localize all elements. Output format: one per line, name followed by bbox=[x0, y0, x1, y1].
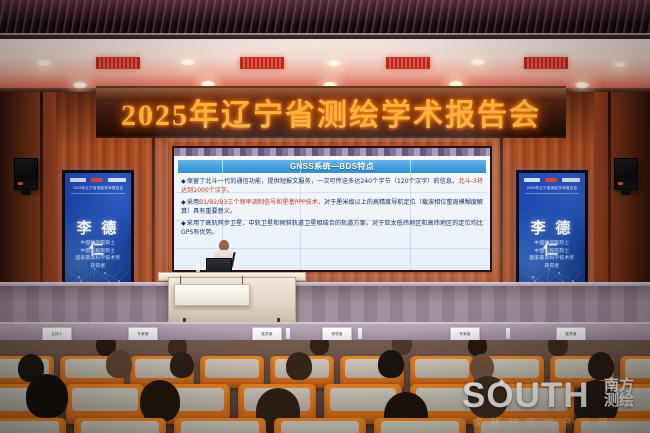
audience-member bbox=[106, 350, 132, 378]
audience-member bbox=[26, 374, 68, 418]
table-bottle bbox=[286, 328, 290, 339]
bullet-text: 采用了高轨同步卫星、中轨卫星和倾斜轨道卫星相结合的轨道方案，对于亚太低纬地区和高… bbox=[181, 220, 483, 236]
event-logo-icon bbox=[545, 178, 557, 182]
audience-member bbox=[170, 352, 194, 378]
side-display-right: 2025年辽宁省测绘学术报告会 李 德 仁 中国科学院院士 中国工程院院士 国家… bbox=[516, 170, 588, 292]
ceiling-vent bbox=[524, 57, 568, 69]
name-card: 主持人 bbox=[42, 327, 72, 341]
name-card: 嘉宾席 bbox=[556, 327, 586, 341]
bullet-marker: ◆ bbox=[181, 178, 186, 185]
seat bbox=[174, 418, 266, 433]
side-display-left: 2025年辽宁省测绘学术报告会 李 德 仁 中国科学院院士 中国工程院院士 国家… bbox=[62, 170, 134, 292]
auditorium-photo: 2025年辽宁省测绘学术报告会 2025年辽宁省测绘学术报告会 李 德 仁 中国… bbox=[0, 0, 650, 433]
side-display-event-subtitle: 2025年辽宁省测绘学术报告会 bbox=[65, 186, 131, 191]
audience-area bbox=[0, 340, 650, 433]
seat bbox=[474, 418, 566, 433]
bullet-marker: ◆ bbox=[181, 220, 186, 227]
name-card: 嘉宾席 bbox=[252, 327, 282, 341]
slide-title-bar: GNSS系统—BDS特点 bbox=[178, 160, 486, 173]
side-display-left-content: 2025年辽宁省测绘学术报告会 李 德 仁 中国科学院院士 中国工程院院士 国家… bbox=[65, 173, 131, 289]
audience-member bbox=[588, 352, 614, 380]
ceiling-slats bbox=[0, 0, 650, 35]
audience-member bbox=[548, 340, 568, 356]
slide-bullet: ◆采用了高轨同步卫星、中轨卫星和倾斜轨道卫星相结合的轨道方案，对于亚太低纬地区和… bbox=[181, 220, 483, 237]
screen-top-trim bbox=[174, 148, 490, 156]
wall-seam bbox=[40, 92, 43, 292]
seat bbox=[374, 418, 466, 433]
side-display-logos bbox=[522, 177, 582, 183]
bullet-text: 采用 bbox=[187, 199, 199, 206]
name-card: 专家席 bbox=[128, 327, 158, 341]
speaker-title-line: 中国科学院院士 bbox=[65, 239, 131, 247]
downlight bbox=[72, 81, 88, 89]
bullet-marker: ◆ bbox=[181, 199, 186, 206]
audience-member bbox=[378, 350, 404, 378]
wall-speaker-right bbox=[614, 158, 638, 190]
audience-member bbox=[310, 340, 329, 355]
downlight bbox=[180, 58, 196, 66]
south-logo-icon bbox=[70, 178, 86, 182]
bullet-text-emphasis: B1/B2/B3三个频率调制信号和星基PPP技术， bbox=[199, 199, 324, 206]
jbl-badge-icon bbox=[18, 182, 23, 185]
seat bbox=[0, 418, 66, 433]
slide-bullet: ◆保留了北斗一代的通信功能，提供短报文服务，一次可传送多达240个字节（120个… bbox=[181, 178, 483, 195]
side-display-event-subtitle: 2025年辽宁省测绘学术报告会 bbox=[519, 186, 585, 191]
bullet-text: 保留了北斗一代的通信功能，提供短报文服务，一次可传送多达240个字节（120个汉… bbox=[187, 178, 459, 185]
ceiling-vent bbox=[386, 57, 430, 69]
side-display-divider bbox=[71, 193, 125, 194]
banner-title: 2025年辽宁省测绘学术报告会 bbox=[121, 90, 541, 134]
south-logo-icon bbox=[524, 178, 540, 182]
downlight bbox=[574, 81, 590, 89]
speaker-title-line: 中国科学院院士 bbox=[519, 239, 585, 247]
table-bottle bbox=[358, 328, 362, 339]
led-banner: 2025年辽宁省测绘学术报告会 bbox=[96, 86, 566, 138]
partner-logo-icon bbox=[108, 178, 126, 182]
hanging-sign bbox=[174, 284, 250, 306]
seat bbox=[274, 418, 366, 433]
downlight bbox=[326, 59, 342, 67]
ceiling-vent bbox=[240, 57, 284, 69]
table-bottle bbox=[506, 328, 510, 339]
wall-speaker-left bbox=[14, 158, 38, 190]
side-display-right-content: 2025年辽宁省测绘学术报告会 李 德 仁 中国科学院院士 中国工程院院士 国家… bbox=[519, 173, 585, 289]
event-logo-icon bbox=[91, 178, 103, 182]
wall-seam bbox=[608, 92, 611, 292]
name-card: 领导席 bbox=[322, 327, 352, 341]
seat bbox=[74, 418, 166, 433]
side-display-logos bbox=[68, 177, 128, 183]
downlight bbox=[470, 58, 486, 66]
downlight bbox=[36, 59, 52, 67]
audience-member bbox=[286, 352, 312, 380]
seat bbox=[574, 418, 650, 433]
name-card: 专家席 bbox=[450, 327, 480, 341]
jbl-badge-icon bbox=[618, 182, 623, 185]
partner-logo-icon bbox=[562, 178, 580, 182]
audience-member bbox=[468, 376, 508, 418]
side-display-divider bbox=[525, 193, 579, 194]
audience-member bbox=[140, 380, 180, 422]
ceiling-vent bbox=[96, 57, 140, 69]
slide-title: GNSS系统—BDS特点 bbox=[290, 161, 374, 172]
downlight bbox=[612, 60, 628, 68]
audience-member bbox=[232, 340, 252, 354]
slide-bullet: ◆采用B1/B2/B3三个频率调制信号和星基PPP技术，对于厘米级以上的高精度导… bbox=[181, 199, 483, 216]
